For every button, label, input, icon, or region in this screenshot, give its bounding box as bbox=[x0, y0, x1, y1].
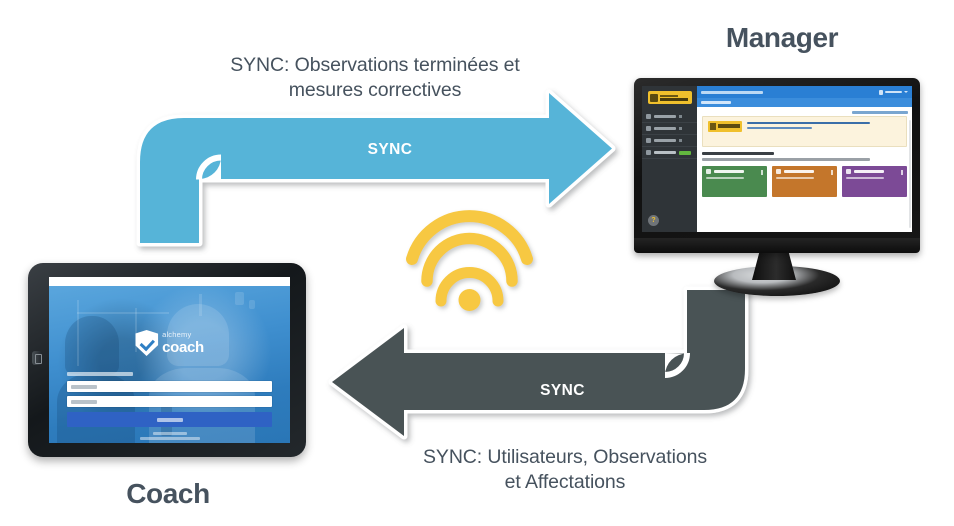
top-flow-caption-line2: mesures correctives bbox=[165, 78, 585, 103]
chart-icon bbox=[646, 138, 651, 143]
chevron-right-icon bbox=[679, 127, 682, 130]
help-question-icon[interactable]: ? bbox=[648, 215, 659, 226]
chevron-down-icon bbox=[904, 91, 908, 93]
card-learning-plans[interactable] bbox=[772, 166, 837, 197]
user-menu[interactable] bbox=[879, 90, 908, 95]
alchemy-manager-logo: alchemy manager bbox=[648, 91, 692, 104]
dashboard-help-link[interactable] bbox=[852, 111, 908, 114]
logo-brand-bottom: coach bbox=[162, 340, 204, 355]
diagram-canvas: SYNC: Observations terminées et mesures … bbox=[0, 0, 954, 526]
alchemy-coach-logo: alchemy coach bbox=[135, 330, 204, 356]
dashboard-sidebar: alchemy manager ? bbox=[642, 86, 697, 232]
chevron-right-icon bbox=[831, 170, 833, 175]
chart-icon bbox=[846, 169, 851, 174]
monitor-screen: alchemy manager ? bbox=[642, 86, 912, 232]
chevron-right-icon bbox=[679, 139, 682, 142]
notice-link[interactable] bbox=[747, 122, 870, 125]
top-arrow-label: SYNC bbox=[285, 141, 495, 159]
dashboard-main bbox=[697, 86, 912, 232]
logo-brand-top: alchemy bbox=[162, 331, 204, 339]
monitor-stand-neck bbox=[752, 250, 796, 280]
username-input[interactable] bbox=[67, 381, 272, 392]
notification-banner bbox=[702, 116, 907, 147]
page-title bbox=[701, 101, 731, 104]
notice-text bbox=[747, 121, 901, 130]
coach-tablet: alchemy coach bbox=[28, 263, 310, 460]
chevron-right-icon bbox=[901, 170, 903, 175]
top-sync-arrow bbox=[140, 93, 612, 243]
welcome-block bbox=[702, 152, 907, 161]
coach-title: Coach bbox=[63, 478, 273, 510]
card-reporting[interactable] bbox=[842, 166, 907, 197]
login-footer bbox=[49, 432, 290, 442]
tablet-screen: alchemy coach bbox=[49, 277, 290, 443]
bottom-flow-caption-line1: SYNC: Utilisateurs, Observations bbox=[355, 445, 775, 470]
organisation-label bbox=[67, 372, 133, 376]
chevron-right-icon bbox=[679, 115, 682, 118]
welcome-heading bbox=[702, 152, 774, 156]
book-icon bbox=[776, 169, 781, 174]
sign-in-button[interactable] bbox=[67, 412, 272, 427]
dashboard-subbar bbox=[697, 98, 912, 107]
user-icon bbox=[879, 90, 883, 95]
monitor-chin bbox=[634, 238, 920, 253]
users-icon bbox=[706, 169, 711, 174]
sidebar-item-learning[interactable] bbox=[642, 123, 697, 135]
sidebar-item-reports[interactable] bbox=[642, 135, 697, 147]
dashboard-cards bbox=[702, 166, 907, 197]
logo-wordmark bbox=[660, 95, 690, 101]
bottom-arrow-label: SYNC bbox=[460, 382, 665, 400]
bottom-flow-caption: SYNC: Utilisateurs, Observations et Affe… bbox=[355, 445, 775, 495]
password-input[interactable] bbox=[67, 396, 272, 407]
manager-title: Manager bbox=[672, 22, 892, 54]
tablet-home-button[interactable] bbox=[32, 351, 42, 365]
info-icon bbox=[646, 150, 651, 155]
card-users[interactable] bbox=[702, 166, 767, 197]
sidebar-item-help[interactable] bbox=[642, 147, 697, 159]
top-flow-caption: SYNC: Observations terminées et mesures … bbox=[165, 53, 585, 103]
chevron-right-icon bbox=[761, 170, 763, 175]
logo-wordmark: alchemy coach bbox=[162, 331, 204, 355]
logo-mark-icon bbox=[650, 94, 658, 102]
sidebar-item-users[interactable] bbox=[642, 111, 697, 123]
manager-monitor: alchemy manager ? bbox=[634, 78, 926, 278]
status-badge bbox=[679, 151, 691, 155]
browser-chrome bbox=[49, 277, 290, 286]
notice-subtext[interactable] bbox=[747, 127, 812, 130]
bottom-sync-arrow bbox=[332, 290, 745, 436]
scrollbar[interactable] bbox=[909, 120, 911, 228]
book-icon bbox=[646, 126, 651, 131]
manager-dashboard: alchemy manager ? bbox=[642, 86, 912, 232]
users-icon bbox=[646, 114, 651, 119]
bottom-flow-caption-line2: et Affectations bbox=[355, 470, 775, 495]
shield-check-icon bbox=[135, 330, 158, 356]
dashboard-topbar bbox=[697, 86, 912, 98]
wifi-icon bbox=[412, 216, 527, 311]
notice-brand-logo bbox=[708, 121, 742, 132]
dashboard-breadcrumb bbox=[701, 91, 763, 94]
top-flow-caption-line1: SYNC: Observations terminées et bbox=[165, 53, 585, 78]
login-background-photo: alchemy coach bbox=[49, 286, 290, 443]
welcome-subtext bbox=[702, 158, 870, 161]
